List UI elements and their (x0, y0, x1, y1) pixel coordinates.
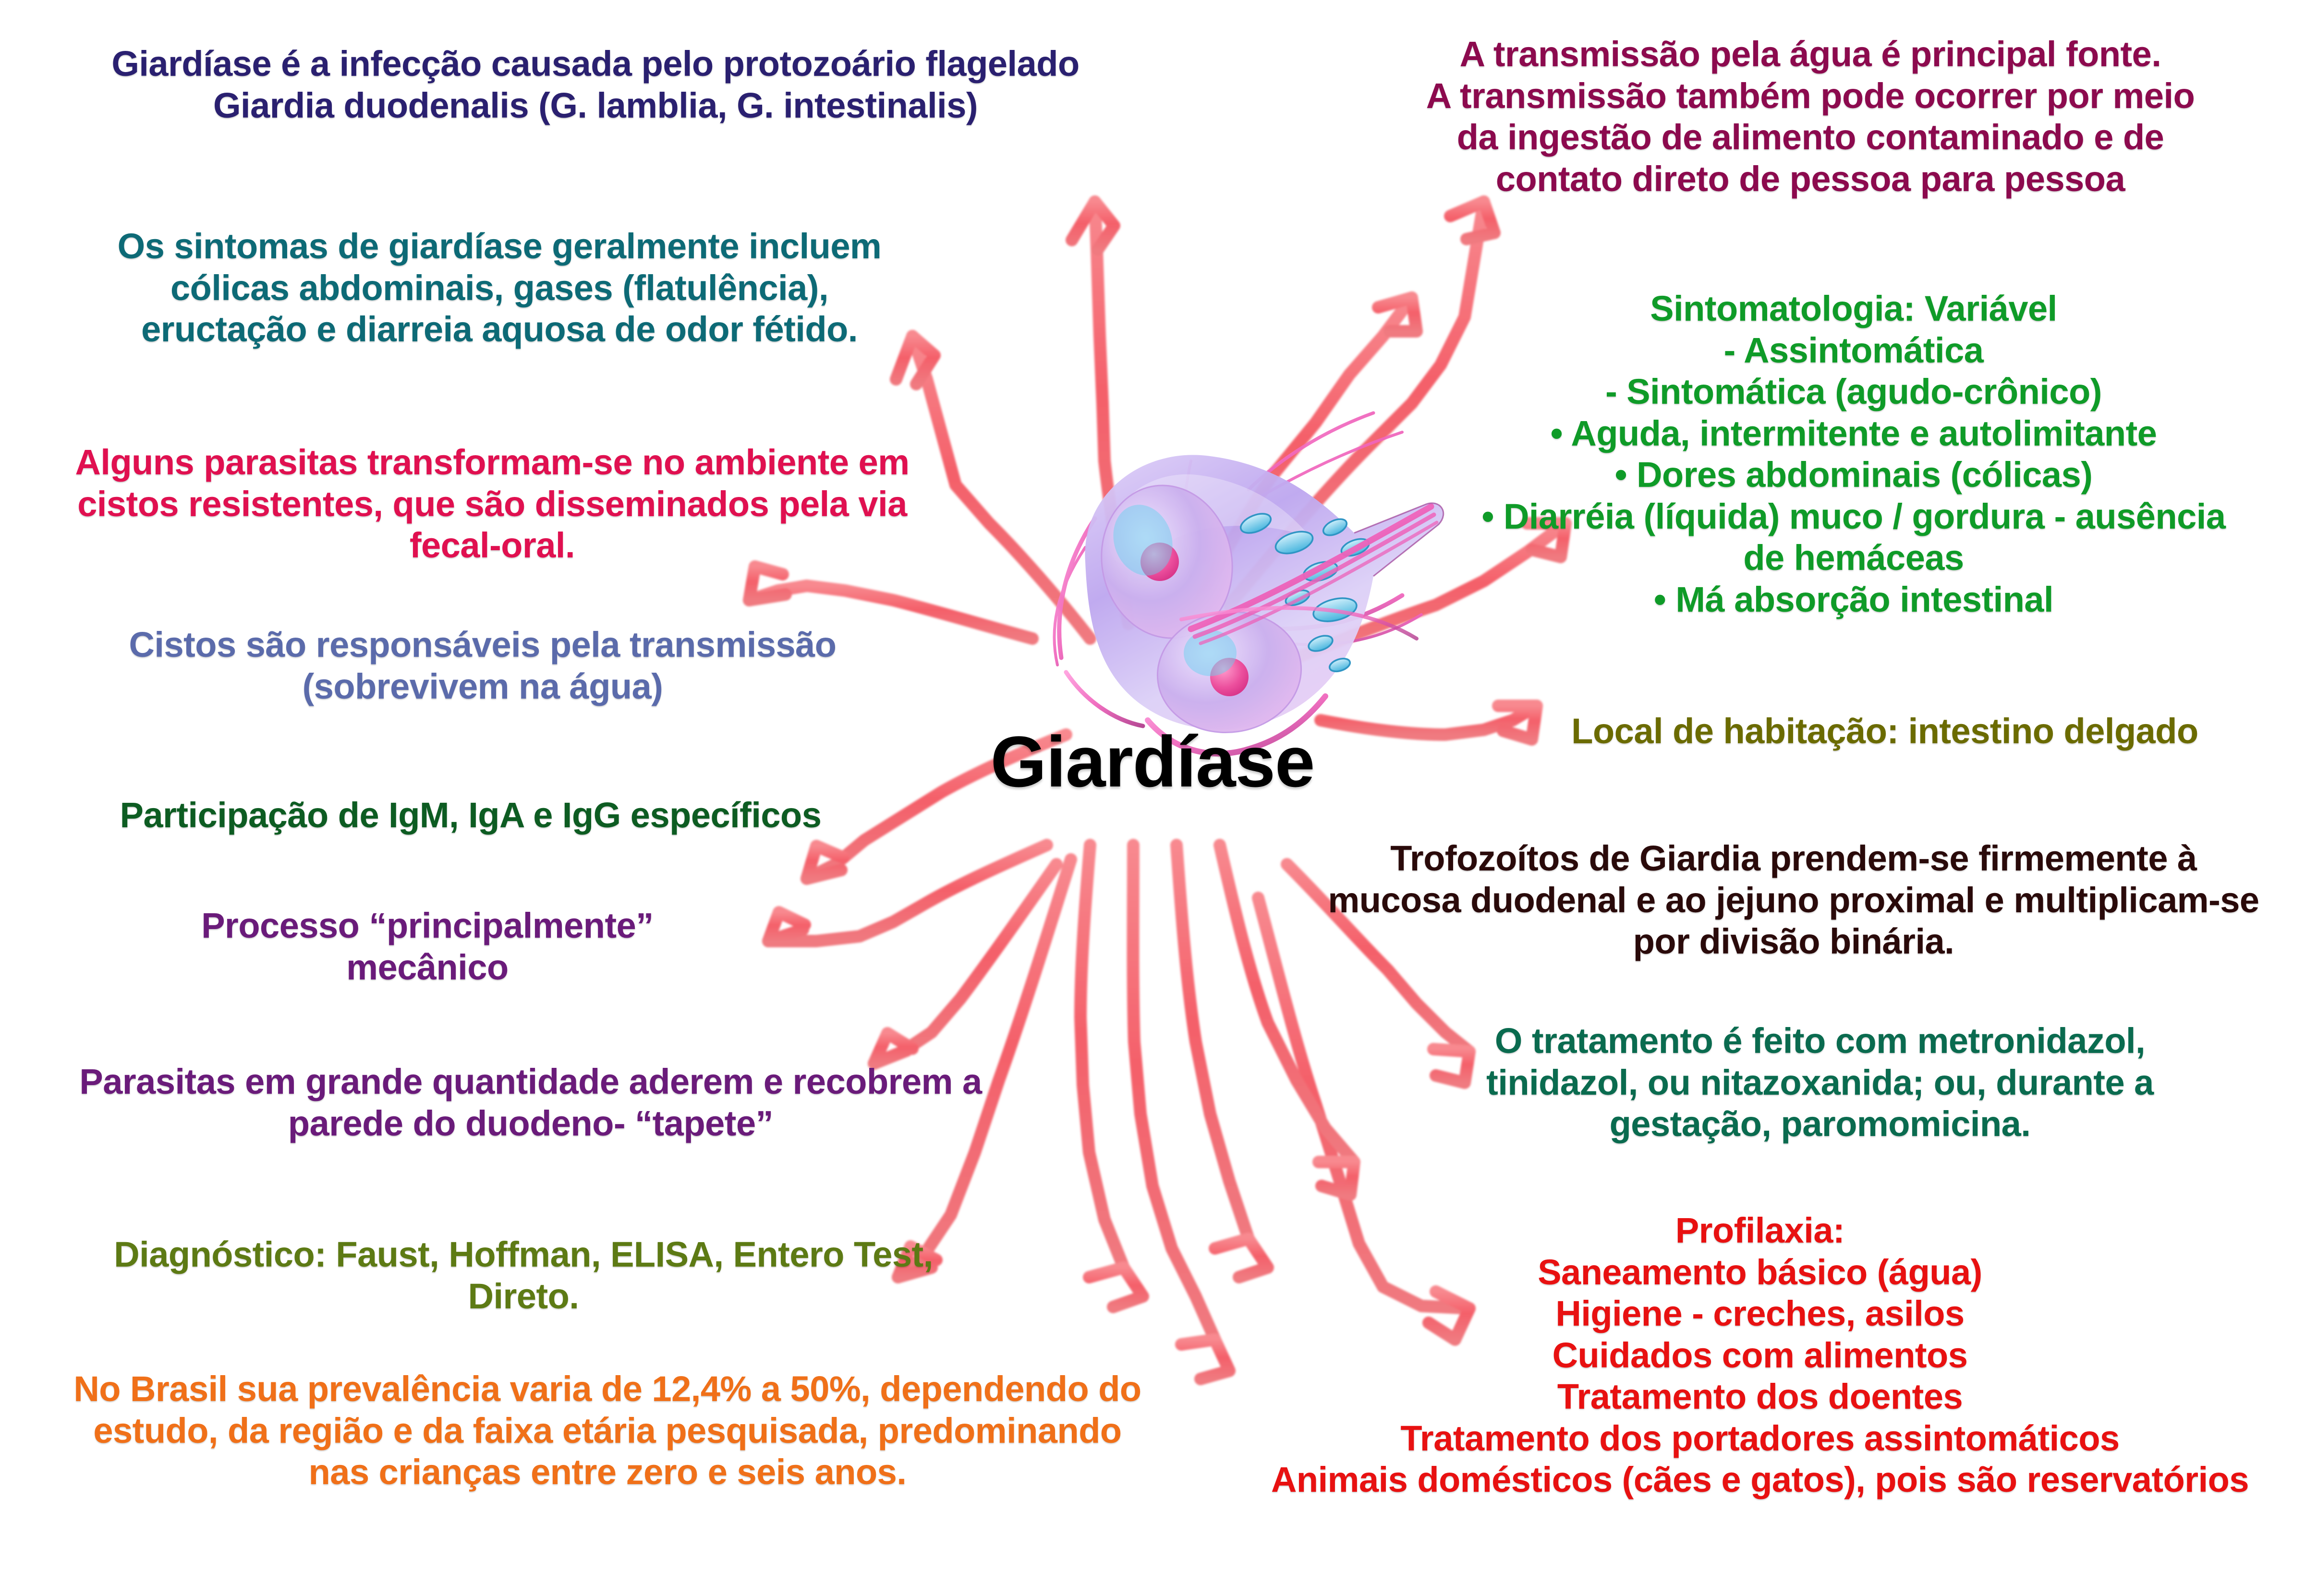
giardia-trophozoite (941, 403, 1479, 759)
note-line: Sintomatologia: Variável (1407, 288, 2300, 330)
note-line: por divisão binária. (1287, 921, 2300, 963)
note-line: Local de habitação: intestino delgado (1469, 711, 2300, 752)
note-line: Alguns parasitas transformam-se no ambie… (10, 442, 975, 484)
page-title: Giardíase (893, 720, 1412, 803)
note-trofozoitos: Trofozoítos de Giardia prendem-se firmem… (1287, 838, 2300, 963)
note-line: - Sintomática (agudo-crônico) (1407, 371, 2300, 413)
note-line: Profilaxia: (1215, 1210, 2305, 1252)
note-sintomatologia: Sintomatologia: Variável - Assintomática… (1407, 288, 2300, 621)
note-line: mucosa duodenal e ao jejuno proximal e m… (1287, 880, 2300, 921)
note-line: Higiene - creches, asilos (1215, 1293, 2305, 1335)
note-line: da ingestão de alimento contaminado e de (1325, 117, 2295, 158)
note-profilaxia: Profilaxia: Saneamento básico (água) Hig… (1215, 1210, 2305, 1501)
note-line: • Diarréia (líquida) muco / gordura - au… (1407, 496, 2300, 538)
note-line: mecânico (86, 947, 768, 989)
arrow-left-igm (768, 845, 1047, 941)
note-prevalencia-brasil: No Brasil sua prevalência varia de 12,4%… (5, 1368, 1210, 1493)
note-line: gestação, paromomicina. (1373, 1103, 2267, 1145)
note-line: Animais domésticos (cães e gatos), pois … (1215, 1459, 2305, 1501)
arrow-left-processo (874, 864, 1056, 1064)
note-tapete-duodeno: Parasitas em grande quantidade aderem e … (10, 1061, 1052, 1144)
note-line: nas crianças entre zero e seis anos. (5, 1451, 1210, 1493)
note-line: Direto. (29, 1276, 1018, 1318)
note-cistos-transmissao: Cistos são responsáveis pela transmissão… (29, 624, 936, 707)
note-line: cólicas abdominais, gases (flatulência), (29, 267, 970, 309)
arrowhead-down-1 (1089, 1268, 1143, 1307)
note-line: (sobrevivem na água) (29, 666, 936, 708)
note-line: Tratamento dos doentes (1215, 1376, 2305, 1418)
arrowhead-left-cistos (807, 846, 843, 879)
note-line: A transmissão também pode ocorrer por me… (1325, 75, 2295, 117)
note-line: Diagnóstico: Faust, Hoffman, ELISA, Ente… (29, 1234, 1018, 1276)
note-line: tinidazol, ou nitazoxanida; ou, durante … (1373, 1062, 2267, 1104)
note-cistos-ambiente: Alguns parasitas transformam-se no ambie… (10, 442, 975, 567)
note-line: Tratamento dos portadores assintomáticos (1215, 1418, 2305, 1460)
note-definicao: Giardíase é a infecção causada pelo prot… (43, 43, 1148, 126)
note-line: Cistos são responsáveis pela transmissão (29, 624, 936, 666)
note-line: • Má absorção intestinal (1407, 579, 2300, 621)
note-sintomas: Os sintomas de giardíase geralmente incl… (29, 226, 970, 351)
note-line: No Brasil sua prevalência varia de 12,4%… (5, 1368, 1210, 1410)
note-line: fecal-oral. (10, 525, 975, 567)
arrowhead-left-igm (768, 912, 805, 941)
note-tratamento: O tratamento é feito com metronidazol, t… (1373, 1020, 2267, 1145)
note-line: Processo “principalmente” (86, 905, 768, 947)
note-line: parede do duodeno- “tapete” (10, 1103, 1052, 1145)
note-line: • Aguda, intermitente e autolimitante (1407, 413, 2300, 455)
note-line: cistos resistentes, que são disseminados… (10, 484, 975, 525)
note-line: A transmissão pela água é principal font… (1325, 34, 2295, 75)
arrowhead-left-sintomas (749, 567, 786, 600)
note-line: Participação de IgM, IgA e IgG específic… (29, 795, 912, 836)
note-transmissao: A transmissão pela água é principal font… (1325, 34, 2295, 200)
note-line: Saneamento básico (água) (1215, 1252, 2305, 1294)
note-line: - Assintomática (1407, 330, 2300, 372)
note-line: Cuidados com alimentos (1215, 1335, 2305, 1377)
note-imunoglobulinas: Participação de IgM, IgA e IgG específic… (29, 795, 912, 836)
arrow-down-3 (1177, 845, 1249, 1239)
note-line: contato direto de pessoa para pessoa (1325, 158, 2295, 200)
note-line: • Dores abdominais (cólicas) (1407, 454, 2300, 496)
arrowhead-left-processo (874, 1033, 912, 1064)
note-line: O tratamento é feito com metronidazol, (1373, 1020, 2267, 1062)
arrowhead-up-left (1072, 202, 1114, 250)
note-line: de hemáceas (1407, 537, 2300, 579)
note-line: Giardia duodenalis (G. lamblia, G. intes… (43, 85, 1148, 127)
note-line: eructação e diarreia aquosa de odor féti… (29, 309, 970, 351)
arrow-down-1 (1080, 845, 1124, 1268)
note-line: estudo, da região e da faixa etária pesq… (5, 1410, 1210, 1452)
mindmap-canvas: Giardíase Giardíase é a infecção causada… (0, 0, 2305, 1596)
arrowhead-down-4 (1319, 1162, 1354, 1195)
note-line: Trofozoítos de Giardia prendem-se firmem… (1287, 838, 2300, 880)
arrow-down-2 (1133, 845, 1215, 1340)
note-line: Os sintomas de giardíase geralmente incl… (29, 226, 970, 267)
note-line: Parasitas em grande quantidade aderem e … (10, 1061, 1052, 1103)
note-diagnostico: Diagnóstico: Faust, Hoffman, ELISA, Ente… (29, 1234, 1018, 1317)
arrowhead-up-right-2 (1450, 202, 1494, 239)
note-line: Giardíase é a infecção causada pelo prot… (43, 43, 1148, 85)
note-processo-mecanico: Processo “principalmente” mecânico (86, 905, 768, 988)
note-local-habitacao: Local de habitação: intestino delgado (1469, 711, 2300, 752)
